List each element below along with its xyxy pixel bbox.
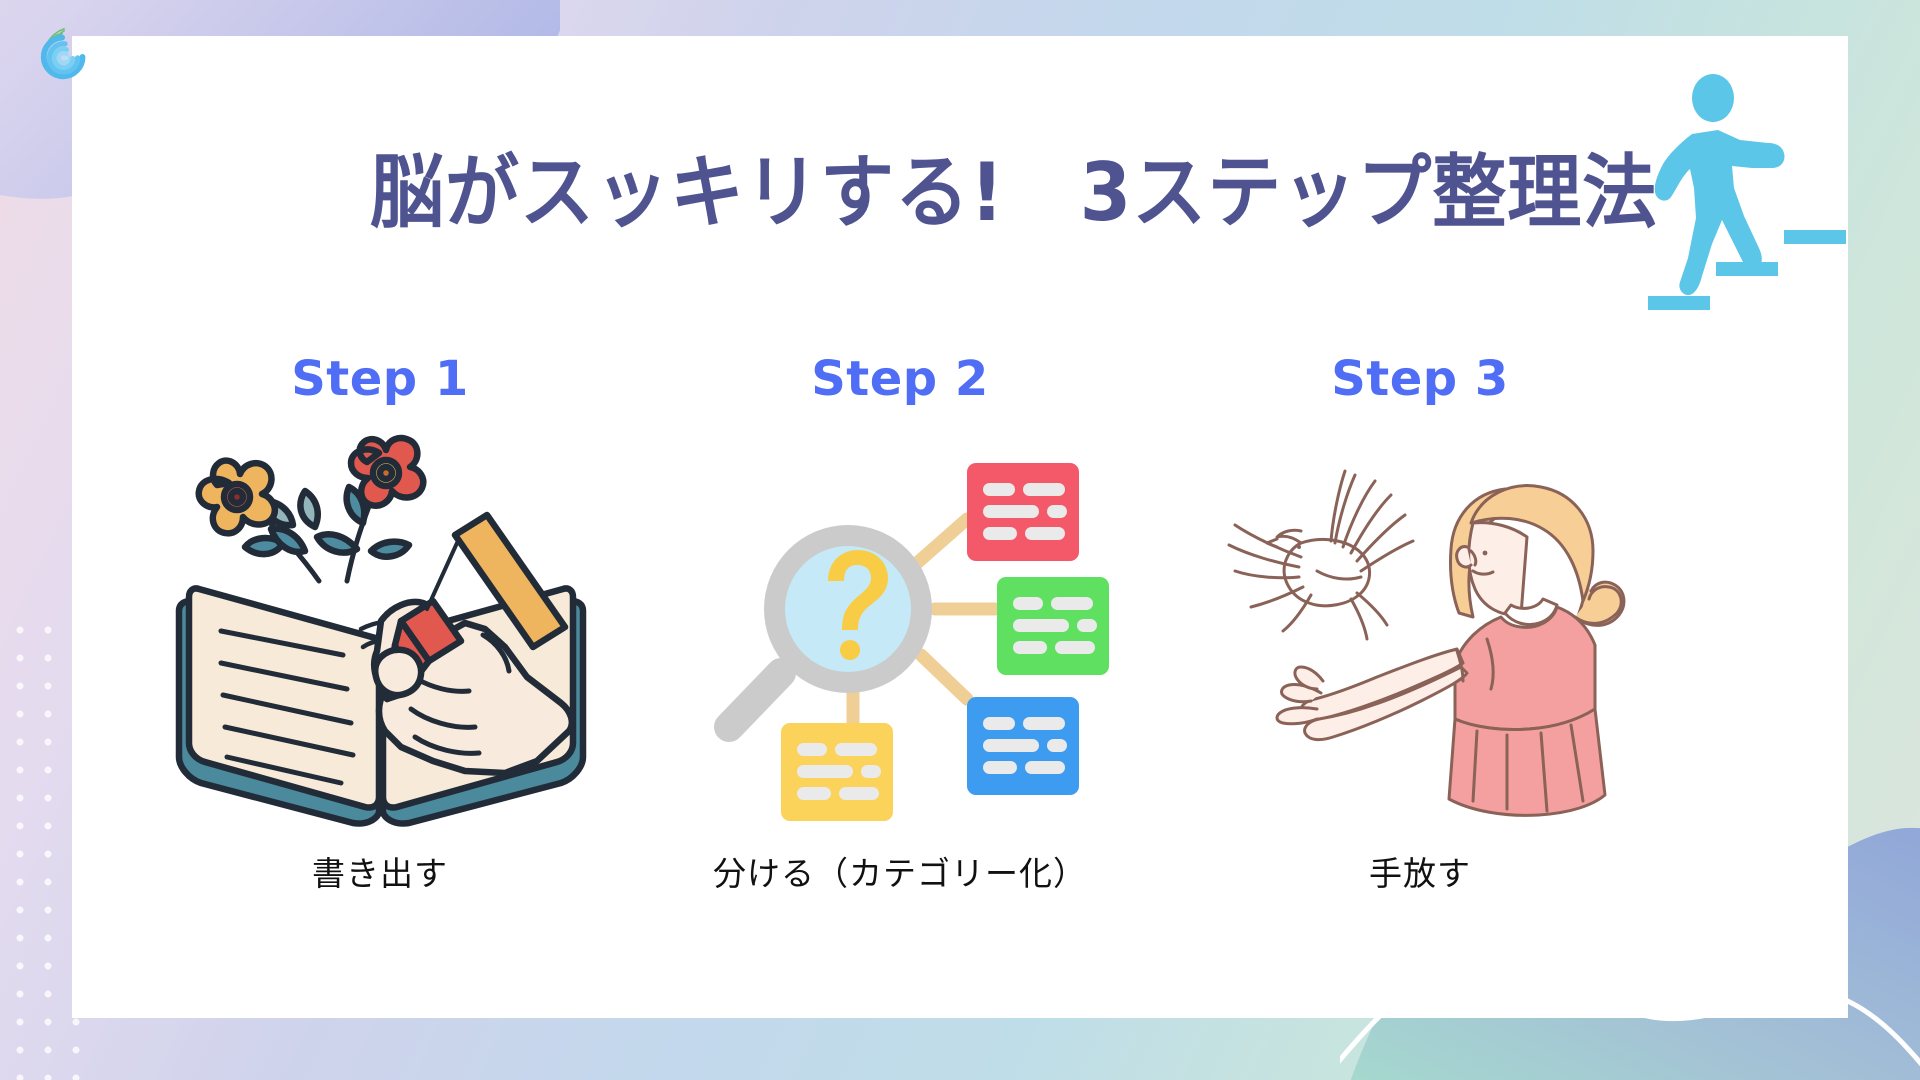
page-title: 脳がスッキリする! 3ステップ整理法 bbox=[370, 128, 1657, 244]
step-illustration-3-wrapper bbox=[1205, 431, 1635, 831]
step-illustration-2 bbox=[685, 431, 1115, 831]
step-caption-3: 手放す bbox=[1369, 847, 1471, 895]
open-book-hand-pencil-flowers-illustration bbox=[165, 431, 595, 831]
step-caption-2: 分ける（カテゴリー化） bbox=[713, 847, 1087, 895]
woman-releasing-dove-illustration bbox=[1205, 431, 1635, 831]
magnifier-question-mark-category-cards-illustration bbox=[685, 431, 1115, 831]
brand-logo[interactable]: Hetero Clinic bbox=[36, 24, 319, 86]
step-label-1: Step 1 bbox=[291, 355, 469, 403]
step-label-3: Step 3 bbox=[1331, 355, 1509, 403]
step-card-2: Step 2 bbox=[640, 355, 1160, 895]
step-illustration-1 bbox=[165, 431, 595, 831]
step-card-3: Step 3 手放す bbox=[1160, 355, 1680, 895]
spiral-leaf-logo-icon bbox=[36, 24, 98, 86]
step-caption-1: 書き出す bbox=[312, 847, 448, 895]
step-card-1: Step 1 bbox=[120, 355, 640, 895]
step-label-2: Step 2 bbox=[811, 355, 989, 403]
steps-row: Step 1 bbox=[120, 355, 1680, 895]
brand-name: Hetero Clinic bbox=[114, 36, 319, 74]
person-climbing-stairs-icon bbox=[1640, 68, 1850, 318]
slide-canvas: Hetero Clinic 脳がスッキリする! 3ステップ整理法 Step 1 bbox=[0, 0, 1920, 1080]
